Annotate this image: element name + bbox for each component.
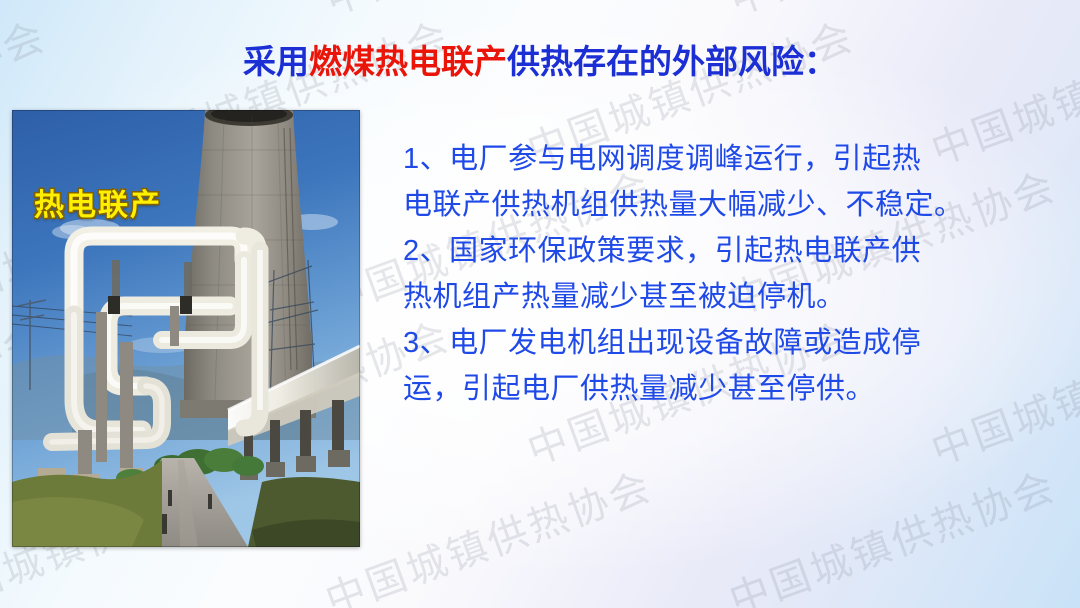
watermark-text: 中国城镇供热协会 xyxy=(316,454,659,608)
watermark-text: 中国城镇供热协会 xyxy=(114,604,457,608)
watermark-text: 中国城镇供热协会 xyxy=(922,604,1080,608)
page-title: 采用燃煤热电联产供热存在的外部风险： xyxy=(0,44,1080,80)
watermark-text: 中国城镇供热协会 xyxy=(316,0,659,26)
risk-line-1: 1、电厂参与电网调度调峰运行，引起热 xyxy=(403,136,1063,182)
risk-list: 1、电厂参与电网调度调峰运行，引起热 电联产供热机组供热量大幅减少、不稳定。 2… xyxy=(403,136,1063,412)
cogeneration-plant-photo: 热电联产 xyxy=(12,110,360,547)
title-prefix: 采用 xyxy=(243,43,309,80)
photo-illustration xyxy=(12,110,360,547)
title-suffix: 供热存在的外部风险： xyxy=(507,43,837,80)
photo-label-cogeneration: 热电联产 xyxy=(34,180,162,224)
watermark-text: 中国城镇供热协会 xyxy=(518,604,861,608)
watermark-text: 中国城镇供热协会 xyxy=(720,454,1063,608)
watermark-text: 中国城镇供热协会 xyxy=(0,0,255,26)
risk-line-3: 2、国家环保政策要求，引起热电联产供 xyxy=(403,228,1063,274)
watermark-text: 中国城镇供热协会 xyxy=(720,0,1063,26)
risk-line-6: 运，引起电厂供热量减少甚至停供。 xyxy=(403,366,1063,412)
risk-line-4: 热机组产热量减少甚至被迫停机。 xyxy=(403,274,1063,320)
title-highlight: 燃煤热电联产 xyxy=(309,43,507,80)
watermark-text: 中国城镇供热协会 xyxy=(0,604,53,608)
slide-canvas: 中国城镇供热协会中国城镇供热协会中国城镇供热协会中国城镇供热协会中国城镇供热协会… xyxy=(0,0,1080,608)
risk-line-2: 电联产供热机组供热量大幅减少、不稳定。 xyxy=(403,182,1063,228)
risk-line-5: 3、电厂发电机组出现设备故障或造成停 xyxy=(403,320,1063,366)
